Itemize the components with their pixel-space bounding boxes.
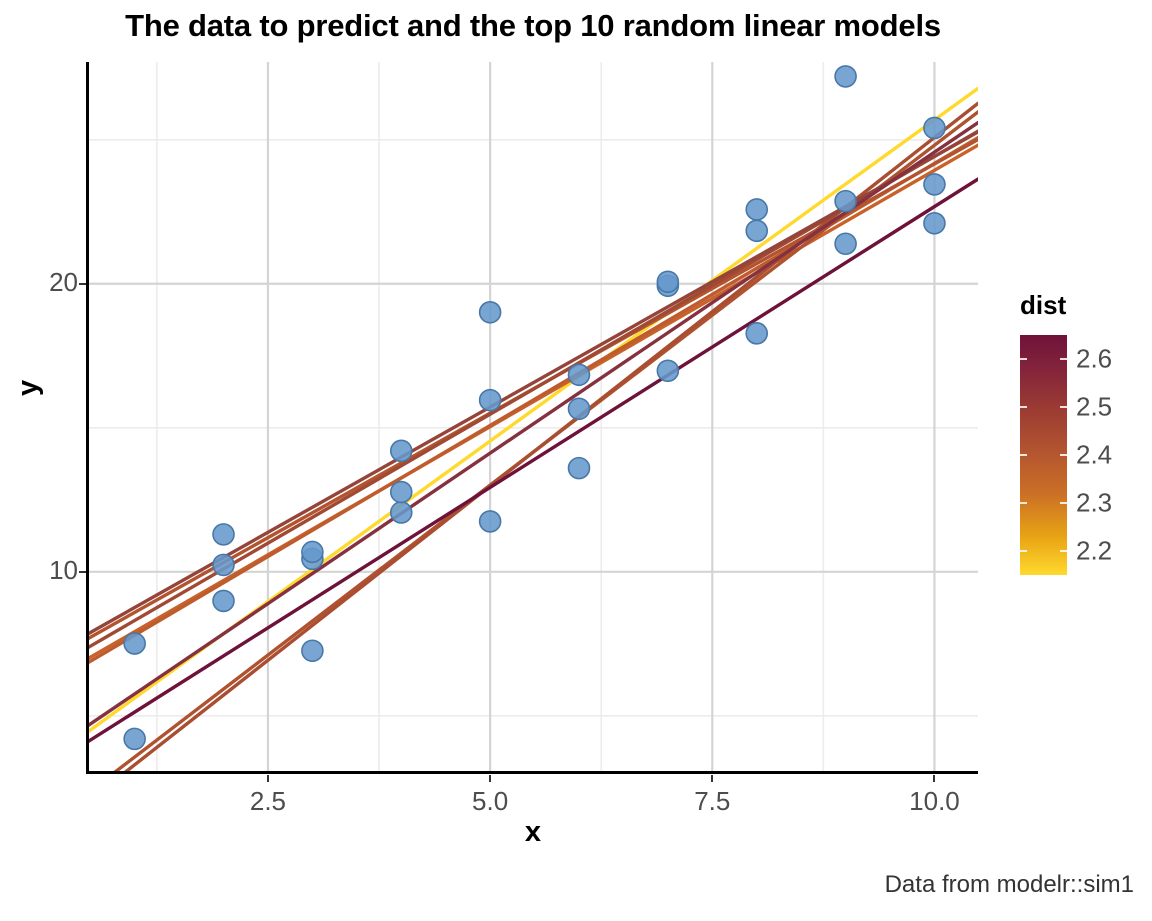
legend-key-label: 2.5 (1076, 392, 1112, 423)
data-point (924, 174, 945, 195)
data-point (124, 633, 145, 654)
data-point (924, 213, 945, 234)
data-point (835, 233, 856, 254)
data-point (746, 323, 767, 344)
panel-canvas (88, 62, 978, 772)
data-point (746, 220, 767, 241)
model-line (88, 138, 978, 663)
plot-panel (88, 62, 978, 772)
x-tick-label: 2.5 (250, 786, 286, 817)
legend-title: dist (1020, 290, 1148, 321)
legend-colorbar (1020, 335, 1067, 575)
data-point (924, 117, 945, 138)
x-tick-mark (489, 775, 491, 782)
data-point (746, 199, 767, 220)
data-point (391, 440, 412, 461)
data-point (657, 360, 678, 381)
legend-body: 2.62.52.42.32.2 (1018, 335, 1148, 585)
x-tick-mark (267, 775, 269, 782)
legend-key-label: 2.6 (1076, 344, 1112, 375)
y-tick-label: 20 (49, 267, 78, 298)
model-line (88, 179, 978, 742)
x-tick-mark (933, 775, 935, 782)
page-title: The data to predict and the top 10 rando… (88, 8, 978, 44)
data-point (213, 554, 234, 575)
y-axis-line (86, 62, 89, 774)
x-axis-line (86, 771, 978, 774)
data-point (480, 302, 501, 323)
data-point (391, 482, 412, 503)
data-point (568, 458, 589, 479)
data-point (835, 191, 856, 212)
x-tick-label: 10.0 (909, 786, 960, 817)
y-tick-mark (79, 571, 86, 573)
x-tick-mark (711, 775, 713, 782)
y-axis-title: y (12, 380, 45, 396)
data-point (302, 541, 323, 562)
data-point-group (124, 66, 945, 772)
data-point (213, 590, 234, 611)
data-point (302, 640, 323, 661)
legend: dist 2.62.52.42.32.2 (1018, 290, 1148, 585)
data-point (657, 271, 678, 292)
data-point (480, 511, 501, 532)
data-point (480, 390, 501, 411)
legend-key-label: 2.4 (1076, 440, 1112, 471)
x-tick-label: 5.0 (472, 786, 508, 817)
data-point (213, 524, 234, 545)
y-tick-mark (79, 283, 86, 285)
x-axis-title: x (88, 816, 978, 849)
y-tick-label: 10 (49, 555, 78, 586)
data-point (391, 502, 412, 523)
data-point (835, 66, 856, 87)
plot-caption: Data from modelr::sim1 (885, 871, 1134, 899)
plot-figure: The data to predict and the top 10 rando… (0, 0, 1152, 921)
model-line (88, 123, 978, 726)
gridlines-major (88, 62, 978, 772)
gridlines-minor (88, 62, 978, 772)
data-point (568, 398, 589, 419)
data-point (124, 728, 145, 749)
legend-key-label: 2.3 (1076, 488, 1112, 519)
x-tick-label: 7.5 (694, 786, 730, 817)
data-point (568, 364, 589, 385)
legend-key-label: 2.2 (1076, 536, 1112, 567)
